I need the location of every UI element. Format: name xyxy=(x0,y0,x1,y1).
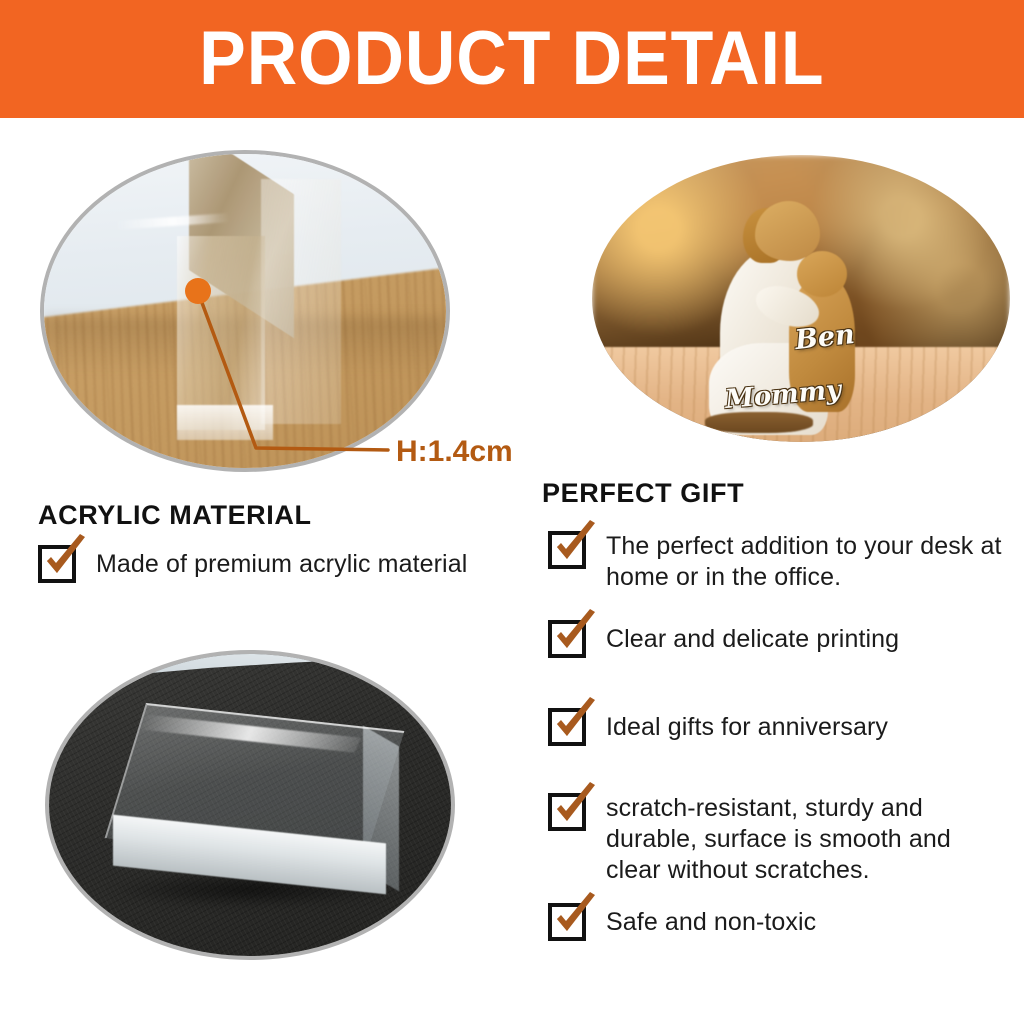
checkbox-icon xyxy=(548,903,586,941)
list-item-text: The perfect addition to your desk at hom… xyxy=(606,531,1008,593)
list-item-text: Safe and non-toxic xyxy=(606,907,816,938)
list-item-text: Made of premium acrylic material xyxy=(96,549,467,580)
engraved-name-child: Ben xyxy=(794,319,857,356)
list-item: Clear and delicate printing xyxy=(548,620,1008,658)
list-item: Made of premium acrylic material xyxy=(38,545,467,583)
section-heading-perfect-gift: PERFECT GIFT xyxy=(542,478,744,509)
figurine-base xyxy=(705,412,813,433)
check-icon xyxy=(549,608,601,660)
check-icon xyxy=(549,891,601,943)
acrylic-slab-right-face xyxy=(261,179,341,424)
checkbox-icon xyxy=(548,708,586,746)
checkbox-icon xyxy=(548,620,586,658)
list-item: The perfect addition to your desk at hom… xyxy=(548,531,1008,593)
acrylic-edge-photo xyxy=(40,150,450,472)
callout-measurement-label: H:1.4cm xyxy=(396,435,513,469)
acrylic-block-photo xyxy=(45,650,455,960)
checkbox-icon xyxy=(548,793,586,831)
page-title: PRODUCT DETAIL xyxy=(199,21,824,97)
list-item: Safe and non-toxic xyxy=(548,903,1008,941)
check-icon xyxy=(549,781,601,833)
list-item-text: Ideal gifts for anniversary xyxy=(606,712,888,743)
check-icon xyxy=(549,519,601,571)
list-item-text: scratch-resistant, sturdy and durable, s… xyxy=(606,793,1008,886)
check-icon xyxy=(549,696,601,748)
page-header-banner: PRODUCT DETAIL xyxy=(0,0,1024,118)
checkbox-icon xyxy=(38,545,76,583)
check-icon xyxy=(39,533,91,585)
list-item: scratch-resistant, sturdy and durable, s… xyxy=(548,793,1008,886)
section-heading-acrylic-material: ACRYLIC MATERIAL xyxy=(38,500,312,531)
product-detail-page: PRODUCT DETAIL Ben Mommy H:1.4cm xyxy=(0,0,1024,1024)
list-item-text: Clear and delicate printing xyxy=(606,624,899,655)
figurine-parent-head xyxy=(755,201,820,261)
acrylic-slab-bevel xyxy=(177,405,273,440)
list-item: Ideal gifts for anniversary xyxy=(548,708,1008,746)
acrylic-slab-front-face xyxy=(177,236,265,431)
checkbox-icon xyxy=(548,531,586,569)
